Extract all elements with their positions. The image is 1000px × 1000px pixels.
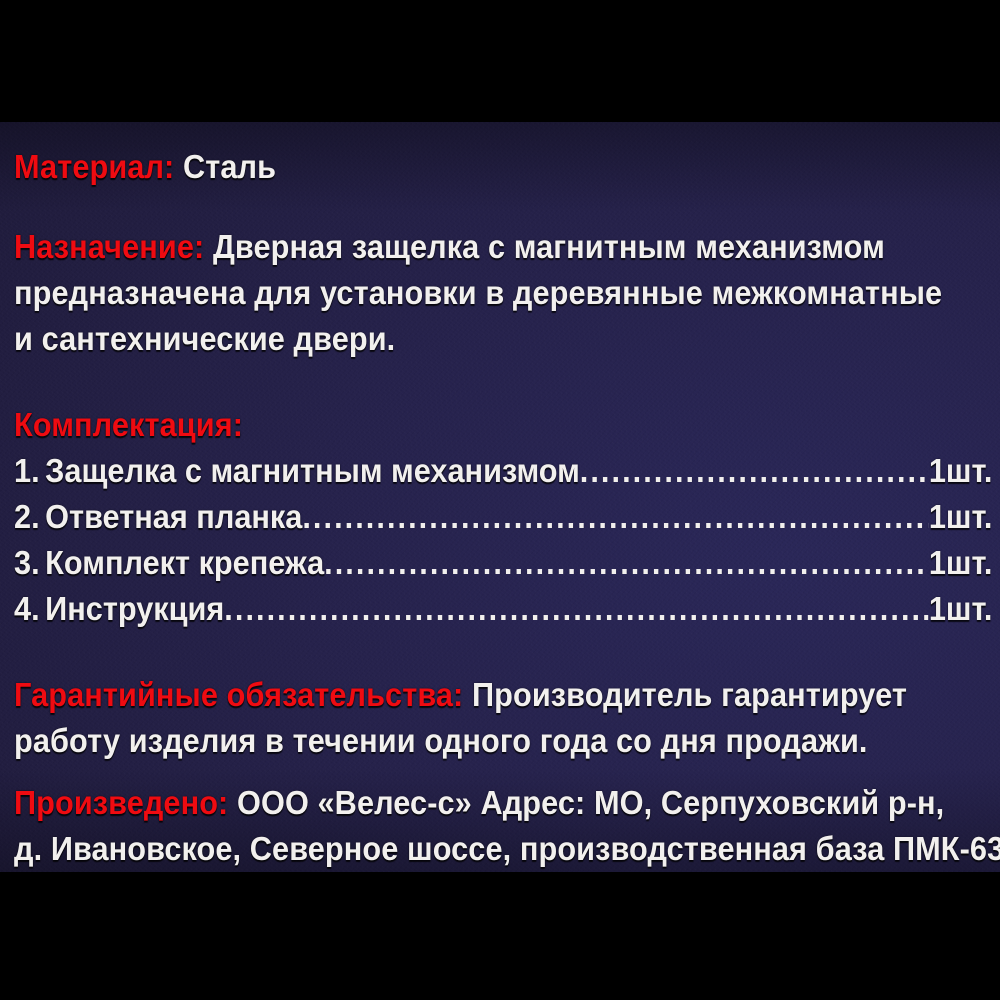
kit-item-qty: 1шт. bbox=[928, 448, 992, 494]
section-purpose: Назначение: Дверная защелка с магнитным … bbox=[14, 224, 990, 362]
kit-item-number: 4. bbox=[14, 586, 45, 632]
section-kit: Комплектация: 1. Защелка с магнитным мех… bbox=[14, 402, 990, 632]
manufacturer-text-1: ООО «Велес-с» Адрес: МО, Серпуховский р-… bbox=[237, 784, 944, 821]
kit-item-number: 3. bbox=[14, 540, 45, 586]
material-line: Материал: Сталь bbox=[14, 144, 922, 190]
kit-item-row: 1. Защелка с магнитным механизмом 1шт. bbox=[14, 448, 992, 494]
dot-leader bbox=[302, 494, 928, 528]
dot-leader bbox=[580, 448, 928, 482]
warranty-line-2: работу изделия в течении одного года со … bbox=[14, 718, 922, 764]
material-label: Материал: bbox=[14, 148, 174, 185]
warranty-label: Гарантийные обязательства: bbox=[14, 676, 463, 713]
kit-item-row: 4. Инструкция 1шт. bbox=[14, 586, 992, 632]
purpose-line-1: Назначение: Дверная защелка с магнитным … bbox=[14, 224, 922, 270]
kit-item-qty: 1шт. bbox=[928, 494, 992, 540]
warranty-text-1: Производитель гарантирует bbox=[472, 676, 907, 713]
purpose-line-3: и сантехнические двери. bbox=[14, 316, 922, 362]
manufacturer-label: Произведено: bbox=[14, 784, 228, 821]
kit-item-name: Инструкция bbox=[45, 586, 224, 632]
spacer bbox=[14, 764, 990, 780]
section-manufacturer: Произведено: ООО «Велес-с» Адрес: МО, Се… bbox=[14, 780, 990, 872]
kit-item-name: Защелка с магнитным механизмом bbox=[45, 448, 580, 494]
manufacturer-line-2: д. Ивановское, Северное шоссе, производс… bbox=[14, 826, 922, 872]
kit-item-number: 1. bbox=[14, 448, 45, 494]
spacer bbox=[14, 362, 990, 402]
label-content: Материал: Сталь Назначение: Дверная заще… bbox=[0, 122, 1000, 872]
kit-item-name: Комплект крепежа bbox=[45, 540, 324, 586]
dot-leader bbox=[324, 540, 928, 574]
spacer bbox=[14, 190, 990, 224]
kit-item-row: 2. Ответная планка 1шт. bbox=[14, 494, 992, 540]
section-material: Материал: Сталь bbox=[14, 122, 990, 190]
kit-item-number: 2. bbox=[14, 494, 45, 540]
kit-item-qty: 1шт. bbox=[928, 586, 992, 632]
kit-item-name: Ответная планка bbox=[45, 494, 302, 540]
kit-item-row: 3. Комплект крепежа 1шт. bbox=[14, 540, 992, 586]
dot-leader bbox=[224, 586, 928, 620]
purpose-text-1: Дверная защелка с магнитным механизмом bbox=[213, 228, 885, 265]
section-warranty: Гарантийные обязательства: Производитель… bbox=[14, 672, 990, 764]
kit-item-qty: 1шт. bbox=[928, 540, 992, 586]
purpose-line-2: предназначена для установки в деревянные… bbox=[14, 270, 922, 316]
kit-label: Комплектация: bbox=[14, 406, 243, 443]
spacer bbox=[14, 632, 990, 672]
material-value: Сталь bbox=[183, 148, 276, 185]
kit-heading: Комплектация: bbox=[14, 402, 922, 448]
manufacturer-line-1: Произведено: ООО «Велес-с» Адрес: МО, Се… bbox=[14, 780, 922, 826]
purpose-label: Назначение: bbox=[14, 228, 204, 265]
product-label: Материал: Сталь Назначение: Дверная заще… bbox=[0, 0, 1000, 1000]
warranty-line-1: Гарантийные обязательства: Производитель… bbox=[14, 672, 922, 718]
label-panel: Материал: Сталь Назначение: Дверная заще… bbox=[0, 122, 1000, 872]
